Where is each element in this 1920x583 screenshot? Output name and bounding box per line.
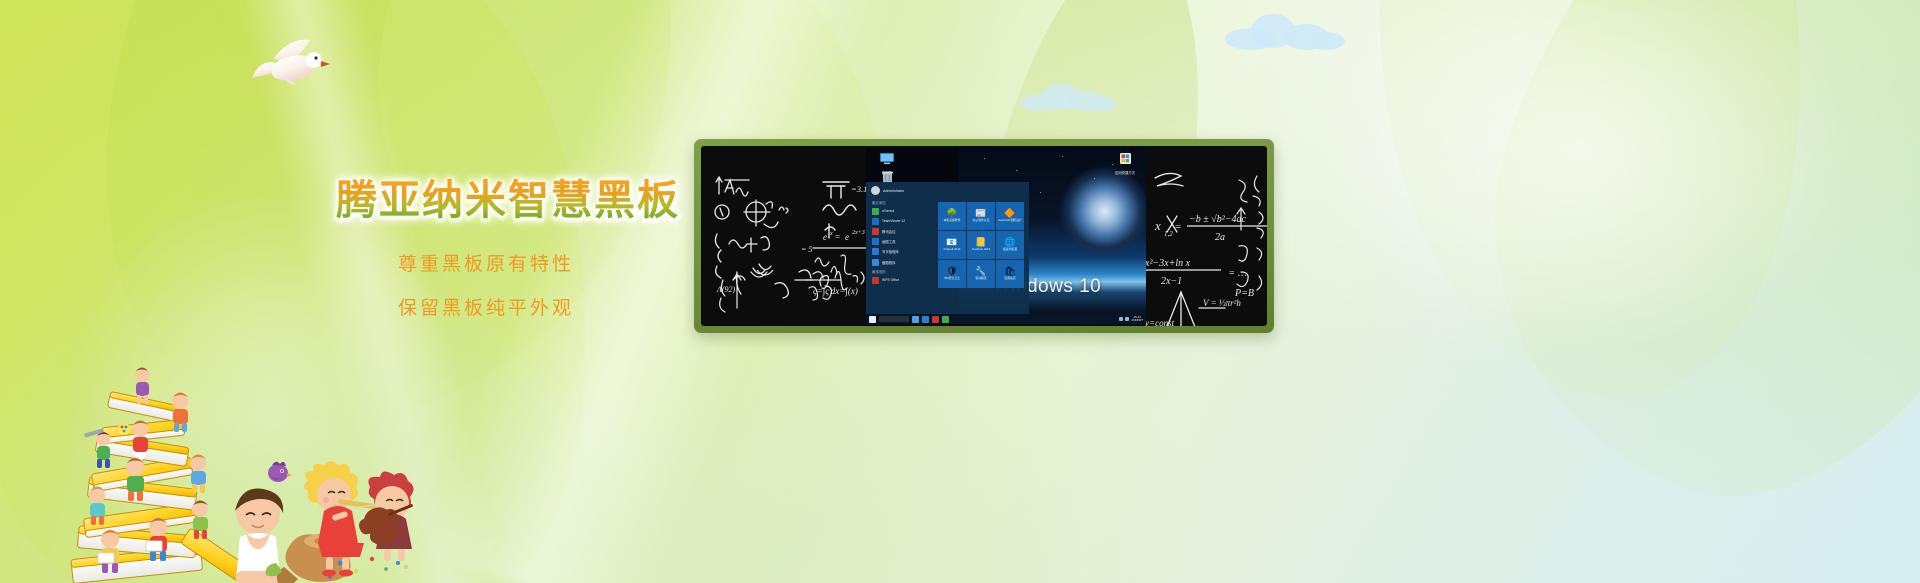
violin-icon bbox=[350, 486, 420, 552]
child-violin-player bbox=[350, 471, 420, 561]
start-menu-app-list: 最近添加 uTorrent TeamViewer 12 腾讯会议 bbox=[866, 198, 938, 288]
svg-text:v=const: v=const bbox=[1145, 318, 1175, 326]
svg-text:e: e bbox=[845, 232, 849, 242]
app-icon bbox=[872, 248, 879, 255]
onenote-icon: 📒 bbox=[975, 238, 986, 247]
start-menu-item-label: TeamViewer 12 bbox=[882, 219, 905, 223]
driver-icon: 🔧 bbox=[975, 267, 986, 276]
chalk-vertical-right: P=B bbox=[1231, 172, 1267, 302]
tree-icon: 🌳 bbox=[946, 209, 957, 218]
app-icon bbox=[872, 259, 879, 266]
tree-stump bbox=[266, 533, 352, 583]
cloud-icon bbox=[1225, 12, 1345, 52]
child-thinking bbox=[235, 488, 283, 583]
start-tile-label: Outlook 2013 bbox=[943, 248, 962, 251]
office-icon: 📰 bbox=[975, 209, 986, 218]
app-icon bbox=[872, 277, 879, 284]
start-tile-label: 360安全卫士 bbox=[943, 277, 961, 280]
flute-icon bbox=[338, 499, 382, 510]
child-sitting bbox=[126, 458, 144, 501]
blackboard-surface: Λ(92) = 5 =3.14159 e x = e 2x+3 bbox=[701, 146, 1267, 326]
computer-icon bbox=[870, 152, 904, 170]
start-menu-item-label: 画图工具 bbox=[882, 239, 896, 244]
start-tile[interactable]: 📒 OneNote 2013 bbox=[967, 231, 995, 259]
task-view-icon[interactable] bbox=[912, 316, 919, 323]
clock-date: 2018/9/7 bbox=[1131, 318, 1143, 322]
taskbar-clock[interactable]: 15:24 2018/9/7 bbox=[1131, 316, 1143, 323]
smart-blackboard[interactable]: Λ(92) = 5 =3.14159 e x = e 2x+3 bbox=[694, 139, 1274, 333]
start-tile-label: OneNote 2013 bbox=[971, 248, 991, 251]
avatar bbox=[871, 186, 880, 195]
start-tile[interactable]: 🌳 本机必备软件 bbox=[938, 202, 966, 230]
start-menu-item-label: 腾讯会议 bbox=[882, 229, 896, 234]
shield-icon: 🛡 bbox=[946, 267, 957, 276]
app-icon bbox=[872, 228, 879, 235]
svg-text:ς=∫ς′dx=∫(x): ς=∫ς′dx=∫(x) bbox=[813, 286, 858, 297]
start-button-icon[interactable] bbox=[869, 316, 876, 323]
desktop-icon-app-shortcut[interactable]: 应用快捷方式 bbox=[1108, 152, 1142, 176]
browser-icon: 🌐 bbox=[1004, 238, 1015, 247]
start-tile[interactable]: 📧 Outlook 2013 bbox=[938, 231, 966, 259]
explorer-icon[interactable] bbox=[922, 316, 929, 323]
child-climbing-right bbox=[190, 455, 206, 494]
start-tile[interactable]: 🌐 极速浏览器 bbox=[996, 231, 1024, 259]
child-right-edge bbox=[192, 501, 208, 540]
child-with-telescope bbox=[84, 428, 110, 468]
app-icon bbox=[872, 218, 879, 225]
svg-text:−b ± √b²−4ac: −b ± √b²−4ac bbox=[1189, 214, 1246, 225]
child-with-palette bbox=[118, 421, 148, 464]
network-icon[interactable] bbox=[1119, 317, 1123, 321]
decorative-dot bbox=[404, 565, 408, 569]
start-tile[interactable]: 🔶 AutoCAD 图形设计 bbox=[996, 202, 1024, 230]
svg-text:=: = bbox=[835, 232, 840, 242]
outlook-icon: 📧 bbox=[946, 238, 957, 247]
svg-text:Λ(92): Λ(92) bbox=[716, 285, 735, 294]
start-menu-item[interactable]: 画图工具 bbox=[866, 237, 938, 247]
cloud-icon bbox=[1020, 82, 1116, 112]
start-menu-item[interactable]: 截图程序 bbox=[866, 257, 938, 267]
start-tile-label: 办公软件认证 bbox=[972, 219, 991, 222]
banner-text-block: 腾亚纳米智慧黑板 腾亚纳米智慧黑板 尊重黑板原有特性 保留黑板纯平外观 bbox=[336, 178, 636, 320]
svg-text:x: x bbox=[829, 231, 833, 237]
chalk-misc-left bbox=[717, 270, 847, 326]
background-glow-top-right bbox=[1300, 0, 1860, 360]
browser-taskbar-icon[interactable] bbox=[932, 316, 939, 323]
taskbar-search-input[interactable] bbox=[879, 316, 909, 322]
svg-text:P=B: P=B bbox=[1234, 288, 1254, 299]
svg-text:= 5: = 5 bbox=[801, 245, 812, 254]
start-menu-item-label: 写字板程序 bbox=[882, 249, 899, 254]
background-leaf-shape-right-a bbox=[1416, 0, 1920, 568]
svg-text:2x−1: 2x−1 bbox=[1161, 276, 1182, 287]
start-menu-item[interactable]: WPS Office bbox=[866, 275, 938, 285]
dove-icon bbox=[240, 28, 332, 90]
start-menu-tiles: 🌳 本机必备软件 📰 办公软件认证 🔶 AutoCAD 图形设计 📧 bbox=[938, 198, 1026, 288]
start-menu-item-label: WPS Office bbox=[882, 278, 899, 282]
chalk-formulas-left: Λ(92) = 5 bbox=[709, 172, 869, 326]
star-dot bbox=[1040, 192, 1041, 193]
app-shortcut-icon bbox=[1108, 152, 1142, 170]
svg-text:V = ⅓πr²h: V = ⅓πr²h bbox=[1203, 298, 1241, 308]
start-tile[interactable]: 🛡 360安全卫士 bbox=[938, 260, 966, 288]
chalk-formulas-right: x 1,2 = −b ± √b²−4ac 2a x²−3x+ln x 2x−1 … bbox=[1137, 166, 1267, 326]
background-leaf-shape-right-b bbox=[1332, 0, 1848, 426]
app-icon bbox=[872, 208, 879, 215]
child-climbing bbox=[135, 368, 149, 405]
app-icon bbox=[872, 238, 879, 245]
purple-bird-icon bbox=[268, 462, 292, 482]
subtitle-line-2: 保留黑板纯平外观 bbox=[336, 293, 636, 320]
child-flute-player bbox=[304, 461, 382, 577]
child-small-left bbox=[89, 487, 105, 526]
start-tile[interactable]: 🛍 应用商店 bbox=[996, 260, 1024, 288]
start-tile[interactable]: 🔧 驱动精灵 bbox=[967, 260, 995, 288]
start-tile-label: 极速浏览器 bbox=[1002, 248, 1018, 251]
app-taskbar-icon[interactable] bbox=[942, 316, 949, 323]
child-reading-seated bbox=[146, 518, 167, 561]
start-menu-item[interactable]: 写字板程序 bbox=[866, 247, 938, 257]
start-menu-body: 最近添加 uTorrent TeamViewer 12 腾讯会议 bbox=[866, 198, 1029, 288]
start-tile-label: 本机必备软件 bbox=[943, 219, 962, 222]
start-tile-label: 应用商店 bbox=[1003, 277, 1016, 280]
start-menu-item-label: uTorrent bbox=[882, 209, 894, 213]
start-menu[interactable]: Administrator 最近添加 uTorrent TeamViewer 1… bbox=[866, 182, 1029, 314]
cad-icon: 🔶 bbox=[1004, 209, 1015, 218]
svg-text:1,2: 1,2 bbox=[1164, 230, 1173, 238]
taskbar[interactable]: 15:24 2018/9/7 bbox=[866, 314, 1146, 324]
start-menu-item-label: 截图程序 bbox=[882, 260, 896, 265]
subtitle-line-1: 尊重黑板原有特性 bbox=[336, 249, 636, 276]
svg-text:= …: = … bbox=[1229, 268, 1247, 279]
start-menu-user[interactable]: Administrator bbox=[866, 182, 1029, 198]
svg-text:2a: 2a bbox=[1215, 232, 1225, 243]
section-label-recent: 最近添加 bbox=[866, 198, 938, 206]
child-bottom bbox=[98, 530, 119, 573]
start-tile-label: AutoCAD 图形设计 bbox=[997, 219, 1023, 222]
windows-desktop-screen[interactable]: 此电脑 回收站 bbox=[866, 148, 1146, 324]
start-menu-item[interactable]: TeamViewer 12 bbox=[866, 216, 938, 226]
svg-text:2x+3: 2x+3 bbox=[852, 230, 865, 236]
svg-text:x: x bbox=[1154, 218, 1161, 233]
child-reading bbox=[172, 393, 188, 433]
page-title: 腾亚纳米智慧黑板 bbox=[336, 175, 680, 229]
user-name: Administrator bbox=[883, 189, 904, 193]
volume-icon[interactable] bbox=[1125, 317, 1129, 321]
svg-text:e: e bbox=[823, 232, 827, 242]
svg-text:x²−3x+ln x: x²−3x+ln x bbox=[1144, 258, 1191, 269]
book-stack-illustration bbox=[40, 367, 420, 583]
desktop-icon-label: 应用快捷方式 bbox=[1108, 171, 1142, 176]
start-tile[interactable]: 📰 办公软件认证 bbox=[967, 202, 995, 230]
taskbar-tray: 15:24 2018/9/7 bbox=[1119, 316, 1143, 323]
svg-text:=: = bbox=[1175, 221, 1181, 233]
start-menu-item[interactable]: 腾讯会议 bbox=[866, 226, 938, 236]
section-label-most-used: 最常用的 bbox=[866, 267, 938, 275]
store-icon: 🛍 bbox=[1004, 267, 1015, 276]
start-menu-item[interactable]: uTorrent bbox=[866, 206, 938, 216]
start-tile-label: 驱动精灵 bbox=[974, 277, 987, 280]
headline-wrapper: 腾亚纳米智慧黑板 腾亚纳米智慧黑板 bbox=[336, 178, 636, 223]
